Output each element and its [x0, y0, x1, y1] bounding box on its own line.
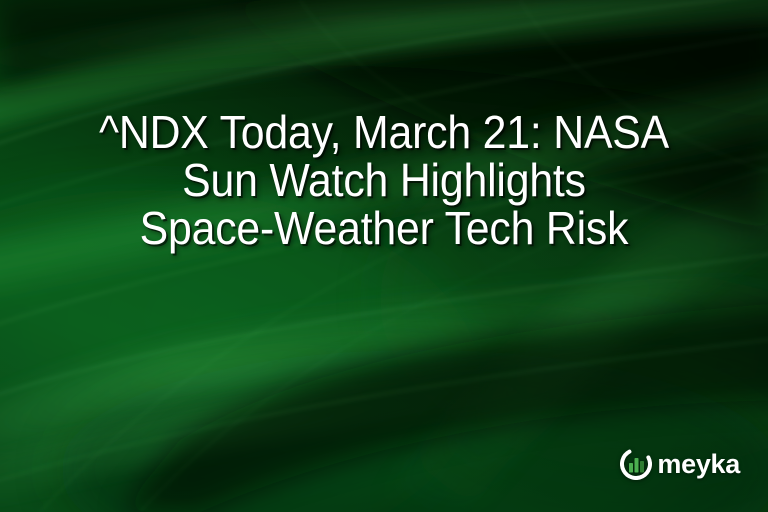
- brand-wordmark: meyka: [657, 451, 740, 478]
- meyka-brand-logo[interactable]: meyka: [620, 448, 740, 480]
- headline-block: ^NDX Today, March 21: NASA Sun Watch Hig…: [0, 108, 768, 252]
- headline-line-1: ^NDX Today, March 21: NASA: [44, 108, 725, 156]
- article-banner-card: ^NDX Today, March 21: NASA Sun Watch Hig…: [0, 0, 768, 512]
- headline-line-3: Space-Weather Tech Risk: [44, 204, 725, 252]
- headline-line-2: Sun Watch Highlights: [44, 156, 725, 204]
- background-wave-artwork: [0, 0, 768, 512]
- meyka-circle-bars-icon: [620, 448, 652, 480]
